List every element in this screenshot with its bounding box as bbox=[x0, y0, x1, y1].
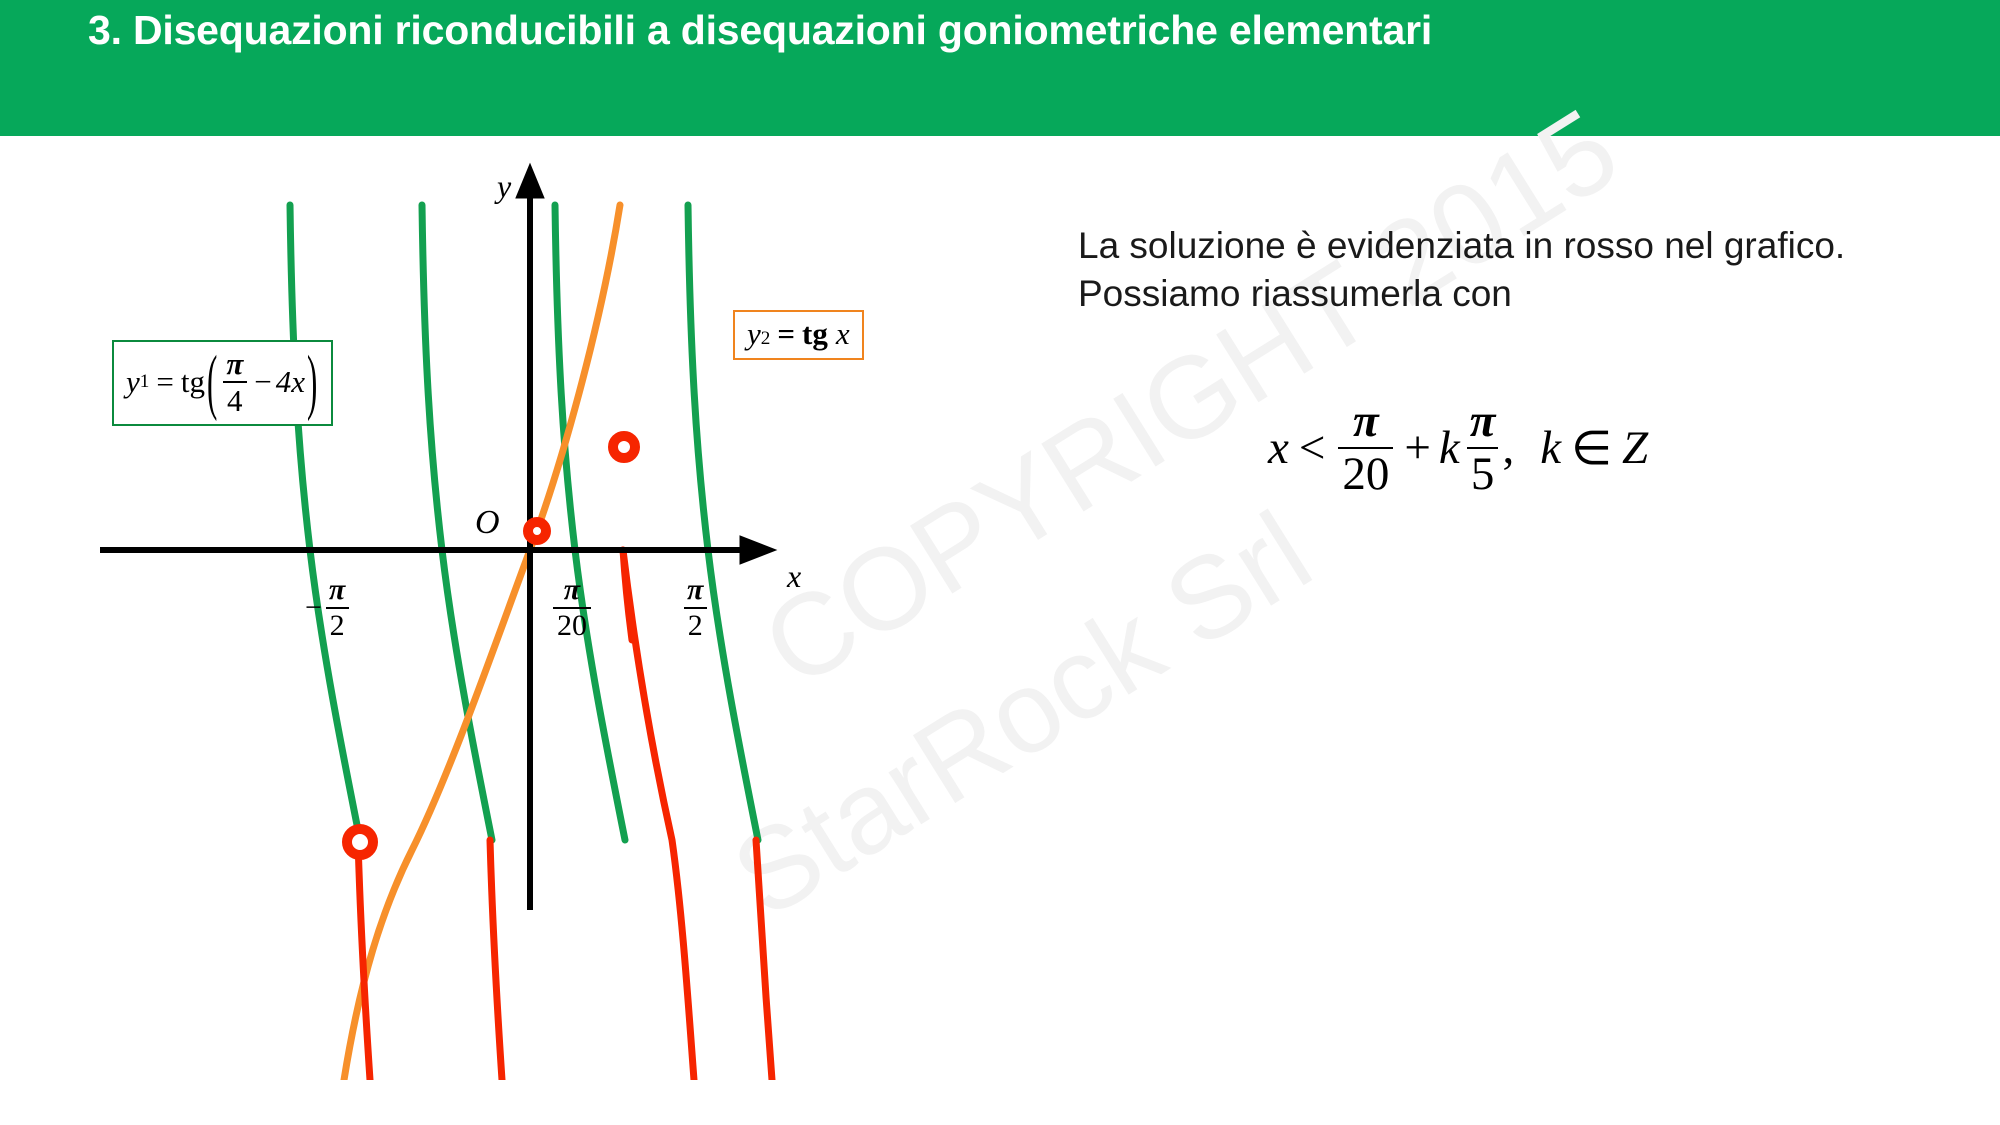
xtick-numerator: π bbox=[683, 575, 707, 607]
legend-box-y1: y1 = tg ( π 4 − 4x ) bbox=[112, 340, 333, 426]
solution-term2-denominator: 5 bbox=[1467, 447, 1499, 498]
x-axis-label: x bbox=[787, 558, 801, 595]
intersection-point bbox=[528, 522, 546, 540]
close-paren-icon: ) bbox=[307, 340, 317, 425]
legend-y1-subscript: 1 bbox=[140, 371, 150, 393]
solution-relation: < bbox=[1299, 421, 1326, 475]
xtick-numerator: π bbox=[325, 575, 349, 607]
curve-y1-green bbox=[290, 205, 758, 840]
solution-set: Z bbox=[1622, 421, 1648, 475]
curve-y2-orange bbox=[344, 205, 620, 1080]
legend-y1-lhs: y bbox=[126, 364, 140, 400]
solution-term2-numerator: π bbox=[1466, 398, 1500, 447]
tangent-inequality-graph: y x O − π 2 π 20 π 2 y1 = tg ( π 4 bbox=[60, 150, 960, 1080]
legend-y2-equals: = bbox=[777, 316, 795, 352]
slide-title-bar: 3. Disequazioni riconducibili a disequaz… bbox=[0, 0, 2000, 136]
explanation-paragraph: La soluzione è evidenziata in rosso nel … bbox=[1078, 222, 1918, 318]
solution-term1-denominator: 20 bbox=[1338, 447, 1393, 498]
open-paren-icon: ( bbox=[207, 340, 217, 425]
solution-k-coefficient: k bbox=[1439, 421, 1460, 475]
graph-svg bbox=[60, 150, 960, 1080]
x-axis-arrow bbox=[740, 536, 776, 564]
legend-y1-function: tg bbox=[181, 364, 205, 400]
xtick-numerator: π bbox=[560, 575, 584, 607]
solution-comma: , bbox=[1502, 421, 1514, 475]
y-axis-label: y bbox=[497, 168, 511, 205]
legend-y1-numerator: π bbox=[222, 348, 247, 381]
legend-y2-argument: x bbox=[836, 316, 850, 352]
solution-term1-numerator: π bbox=[1349, 398, 1383, 447]
legend-y1-coefficient: 4x bbox=[276, 364, 305, 400]
origin-label: O bbox=[475, 504, 500, 542]
xtick-denominator: 2 bbox=[326, 607, 349, 641]
solution-lhs: x bbox=[1268, 421, 1289, 475]
solution-k-variable: k bbox=[1540, 421, 1561, 475]
xtick-minus-pi-over-2: − π 2 bbox=[305, 575, 352, 641]
solution-formula: x < π 20 + k π 5 , k ∈ Z bbox=[1268, 398, 1918, 498]
xtick-denominator: 20 bbox=[553, 607, 591, 641]
intersection-point bbox=[613, 436, 635, 458]
legend-y2-lhs: y bbox=[747, 316, 761, 352]
legend-y1-denominator: 4 bbox=[223, 381, 247, 416]
legend-y1-minus: − bbox=[254, 364, 271, 400]
explanation-column: La soluzione è evidenziata in rosso nel … bbox=[1078, 222, 1918, 498]
solution-plus: + bbox=[1404, 421, 1431, 475]
xtick-sign: − bbox=[305, 591, 322, 625]
page-title: 3. Disequazioni riconducibili a disequaz… bbox=[0, 0, 1432, 54]
y-axis-arrow bbox=[516, 164, 544, 198]
xtick-pi-over-2: π 2 bbox=[680, 575, 710, 641]
legend-y1-equals: = bbox=[156, 364, 173, 400]
legend-y2-subscript: 2 bbox=[761, 328, 771, 350]
legend-box-y2: y2 = tg x bbox=[733, 310, 864, 360]
intersection-point bbox=[347, 829, 373, 855]
xtick-denominator: 2 bbox=[684, 607, 707, 641]
xtick-pi-over-20: π 20 bbox=[550, 575, 594, 641]
legend-y2-function: tg bbox=[802, 316, 828, 352]
solution-membership-symbol: ∈ bbox=[1571, 421, 1612, 476]
